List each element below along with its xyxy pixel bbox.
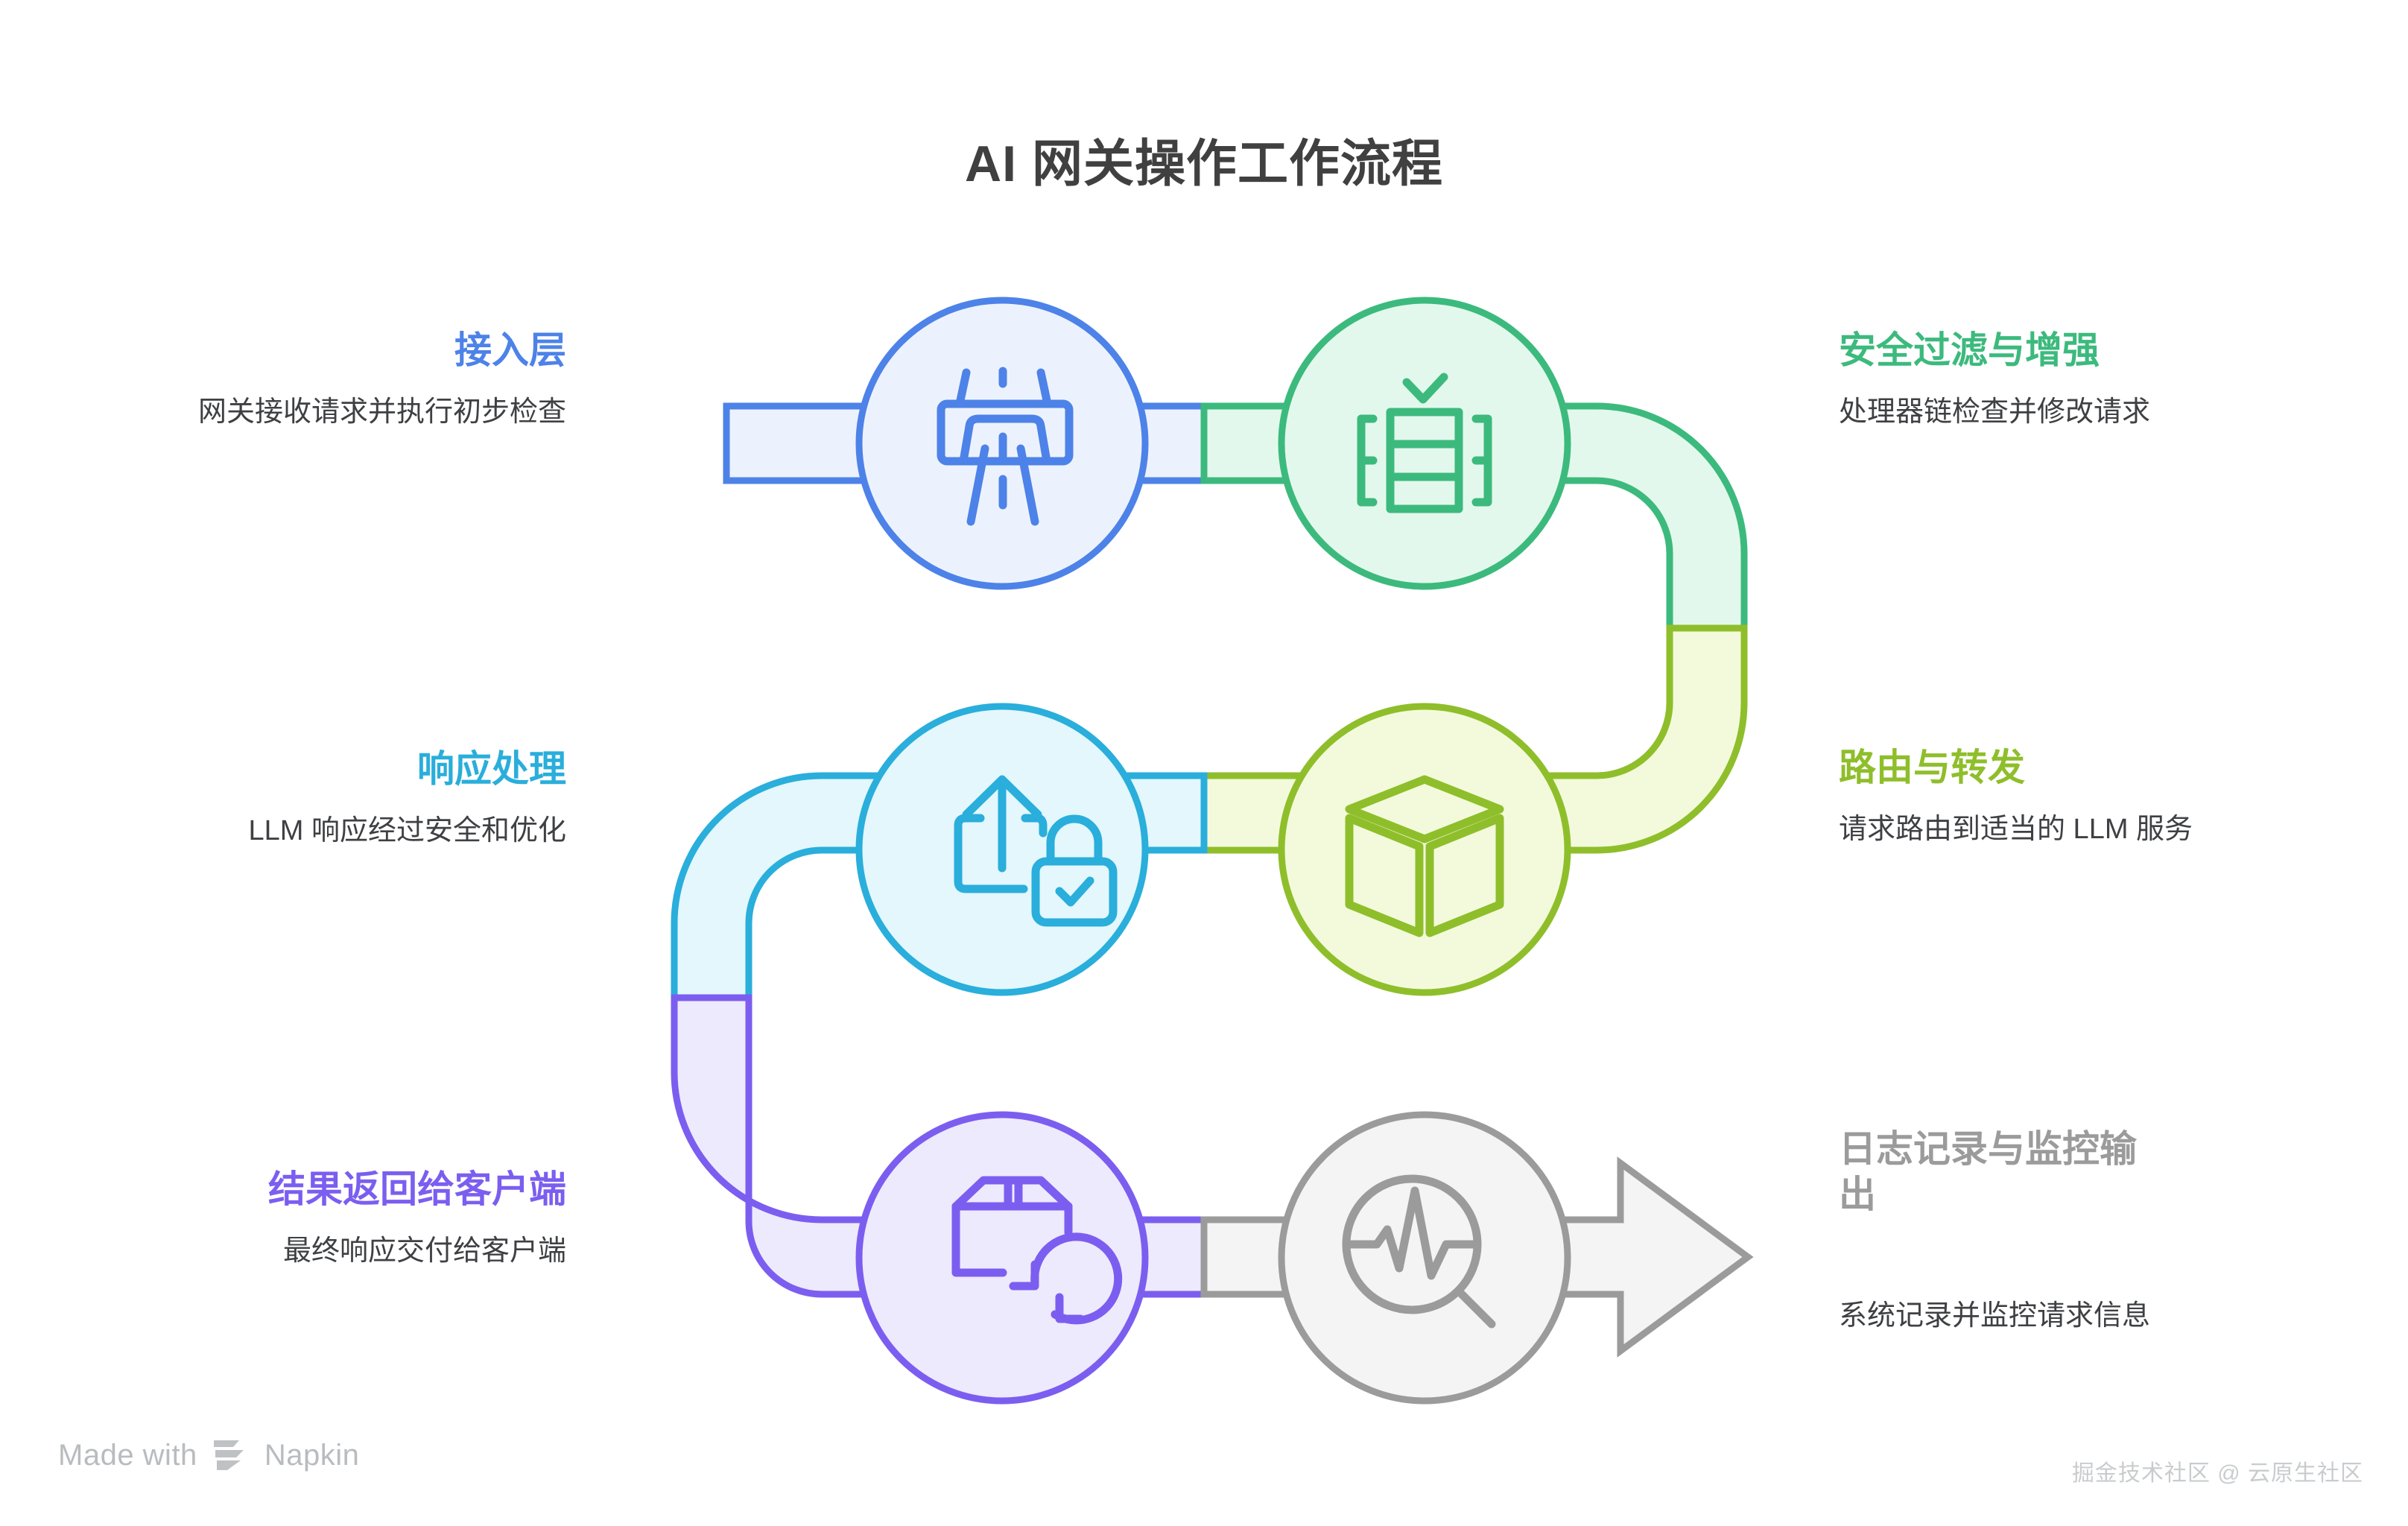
step-desc-logging-monitoring: 系统记录并监控请求信息 [1839, 1297, 2345, 1337]
step-text-routing-forwarding: 路由与转发 请求路由到适当的 LLM 服务 [1839, 745, 2360, 850]
step-text-logging-monitoring: 日志记录与监控输 出 系统记录并监控请求信息 [1839, 1127, 2345, 1337]
step-desc-response-processing: LLM 响应经过安全和优化 [45, 811, 566, 852]
diagram-canvas: AI 网关操作工作流程 [0, 0, 2408, 1526]
step-desc-result-to-client: 最终响应交付给客户端 [45, 1232, 566, 1272]
flow-ribbon [674, 406, 1748, 1351]
step-heading-access-layer: 接入层 [45, 328, 566, 373]
napkin-logo-icon [211, 1438, 251, 1472]
napkin-brand-label: Napkin [264, 1439, 360, 1472]
step-text-security-filter: 安全过滤与增强 处理器链检查并修改请求 [1839, 328, 2360, 433]
step-heading-result-to-client: 结果返回给客户端 [45, 1167, 566, 1212]
footer-branding: Made with Napkin [58, 1438, 359, 1472]
step-desc-access-layer: 网关接收请求并执行初步检查 [45, 393, 566, 433]
step-heading-security-filter: 安全过滤与增强 [1839, 328, 2360, 373]
step-desc-security-filter: 处理器链检查并修改请求 [1839, 393, 2360, 433]
step-heading-routing-forwarding: 路由与转发 [1839, 745, 2360, 791]
made-with-label: Made with [58, 1439, 197, 1472]
watermark-text: 掘金技术社区 @ 云原生社区 [2072, 1454, 2363, 1487]
step-text-access-layer: 接入层 网关接收请求并执行初步检查 [45, 328, 566, 433]
step-heading-response-processing: 响应处理 [45, 747, 566, 792]
step-text-response-processing: 响应处理 LLM 响应经过安全和优化 [45, 747, 566, 852]
step-desc-routing-forwarding: 请求路由到适当的 LLM 服务 [1839, 810, 2360, 850]
step-text-result-to-client: 结果返回给客户端 最终响应交付给客户端 [45, 1167, 566, 1272]
step-heading-logging-monitoring: 日志记录与监控输 出 [1839, 1127, 2345, 1218]
